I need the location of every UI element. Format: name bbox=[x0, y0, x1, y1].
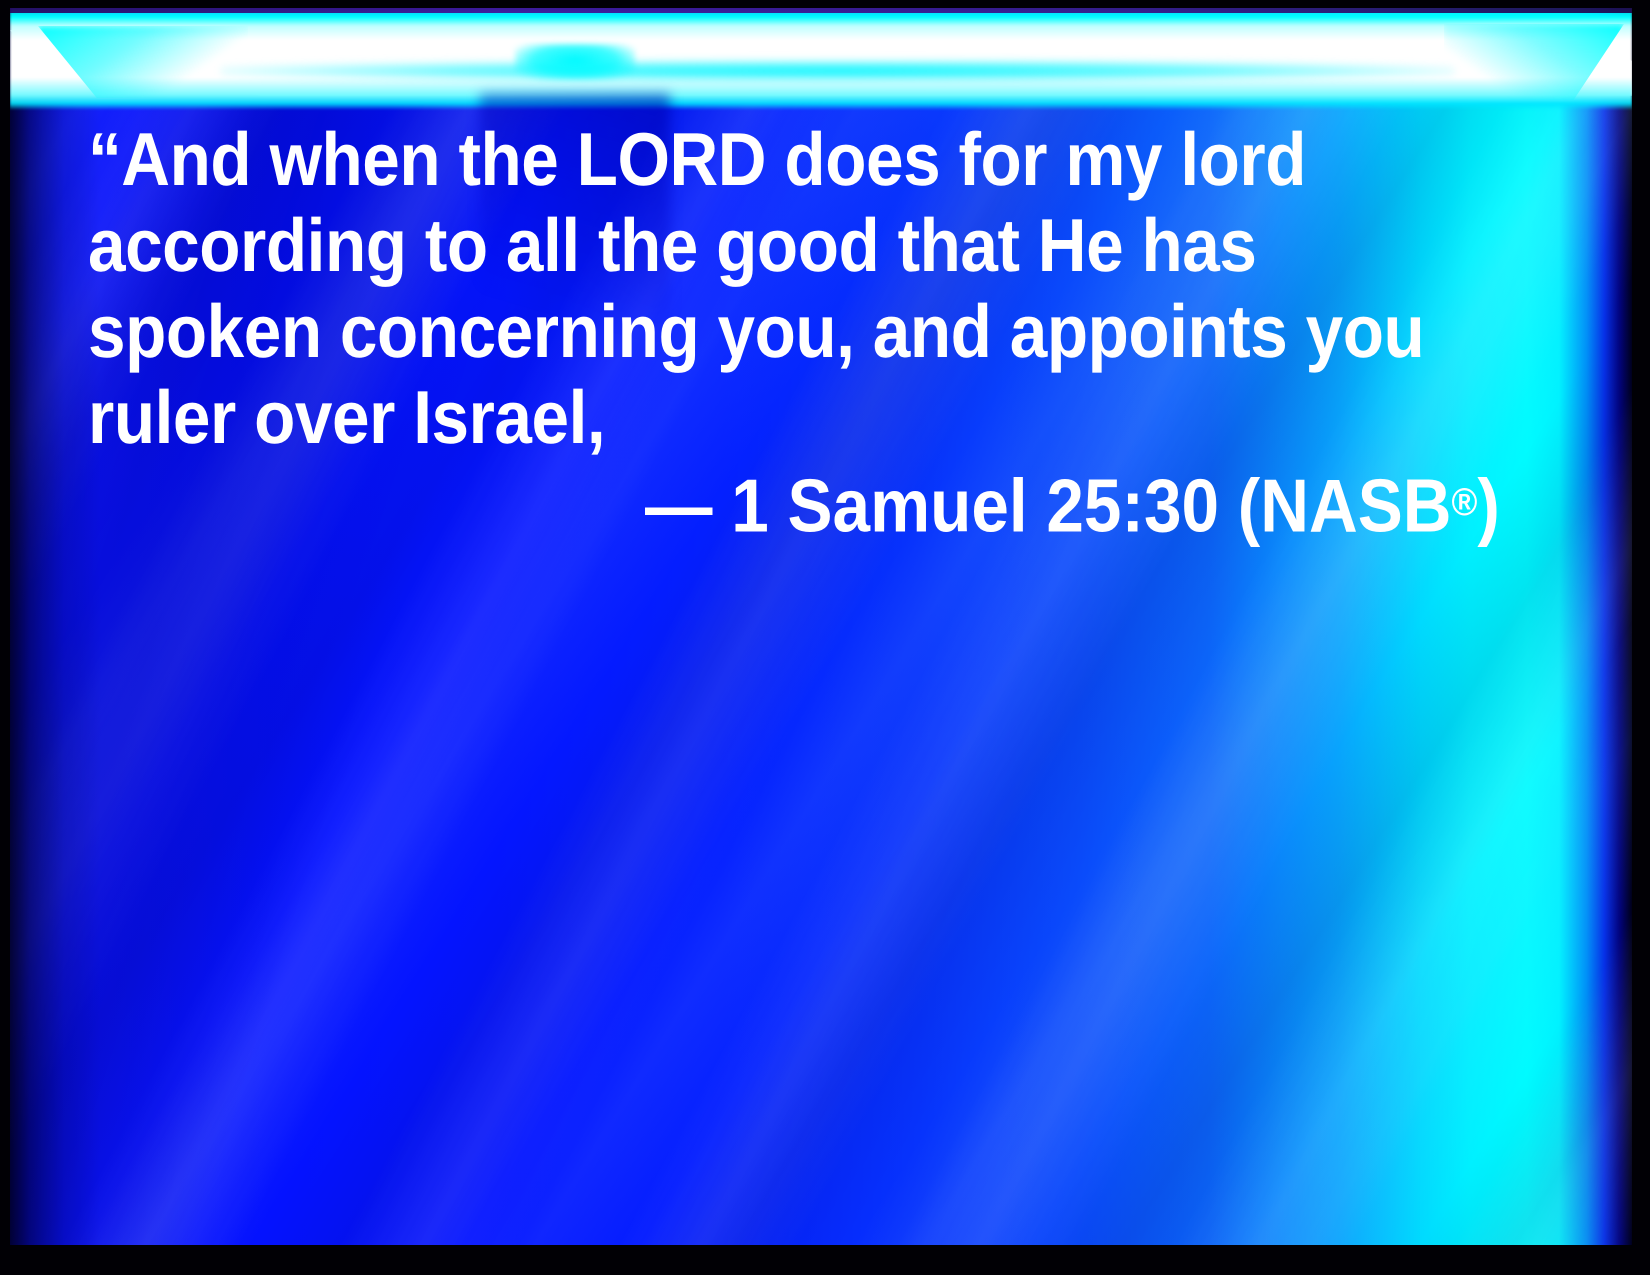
verse-line-3: spoken concerning you, and appoints you bbox=[88, 288, 1366, 374]
glow-cyan-wash bbox=[221, 60, 1454, 82]
verse-citation: — 1 Samuel 25:30 (NASB®) bbox=[88, 460, 1500, 548]
verse-line-2: according to all the good that He has bbox=[88, 202, 1366, 288]
glow-violet-seam bbox=[10, 8, 1632, 13]
slide-canvas: “And when the LORD does for my lord acco… bbox=[10, 8, 1632, 1245]
background-left-shadow bbox=[10, 8, 100, 1245]
scripture-slide: “And when the LORD does for my lord acco… bbox=[0, 0, 1650, 1275]
registered-trademark-icon: ® bbox=[1452, 481, 1478, 524]
verse-text-block: “And when the LORD does for my lord acco… bbox=[88, 116, 1508, 460]
verse-line-1: “And when the LORD does for my lord bbox=[88, 116, 1366, 202]
citation-inner: — 1 Samuel 25:30 (NASB®) bbox=[645, 460, 1500, 548]
top-glow-bar bbox=[10, 8, 1632, 128]
verse-line-4: ruler over Israel, bbox=[88, 374, 1366, 460]
citation-suffix: ) bbox=[1478, 463, 1500, 547]
glow-cyan-halo bbox=[10, 8, 1632, 110]
glow-cyan-blob bbox=[515, 44, 635, 80]
citation-prefix: — 1 Samuel 25:30 (NASB bbox=[645, 463, 1452, 547]
